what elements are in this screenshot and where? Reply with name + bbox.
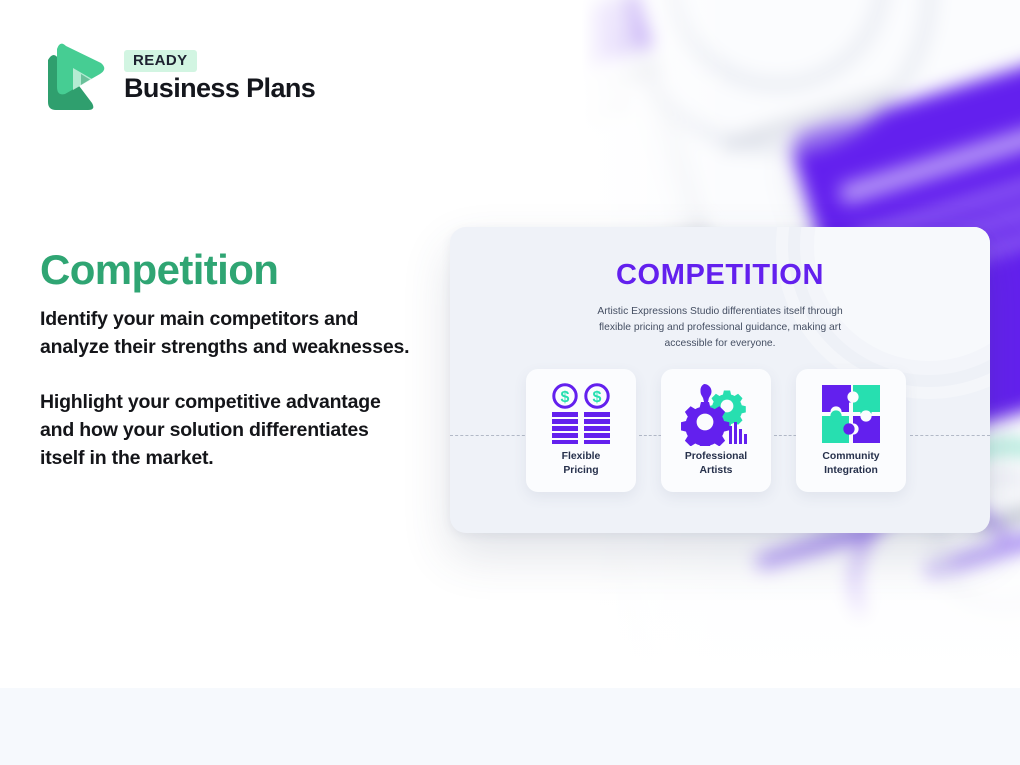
svg-text:$: $	[561, 389, 570, 406]
description-paragraph-2: Highlight your competitive advantage and…	[40, 389, 418, 472]
feature-tile-label-line2: Pricing	[563, 465, 598, 476]
feature-tile-label-line2: Artists	[700, 465, 733, 476]
bottom-band	[0, 688, 1020, 765]
dashed-connector	[450, 435, 530, 436]
feature-tile-label-line1: Community	[822, 451, 879, 462]
brand-name: Business Plans	[124, 74, 315, 104]
feature-tile-flexible-pricing[interactable]: $ $	[526, 369, 636, 492]
svg-text:$: $	[593, 389, 602, 406]
feature-tile-label: Community Integration	[822, 450, 879, 477]
feature-tile-label-line1: Professional	[685, 451, 747, 462]
feature-tile-professional-artists[interactable]: Professional Artists	[661, 369, 771, 492]
slide-preview-card[interactable]: COMPETITION Artistic Expressions Studio …	[450, 227, 990, 533]
gears-lightbulb-chart-icon	[681, 382, 751, 446]
page-title: Competition	[40, 246, 278, 294]
tile-icon-wrap	[820, 380, 882, 448]
brand-logo-text: READY Business Plans	[124, 50, 315, 104]
coin-stacks-icon: $ $	[548, 383, 614, 445]
feature-tile-label: Professional Artists	[685, 450, 747, 477]
tile-icon-wrap: $ $	[548, 380, 614, 448]
slide-subtitle: Artistic Expressions Studio differentiat…	[586, 304, 854, 352]
puzzle-pieces-icon	[820, 383, 882, 445]
feature-tile-community-integration[interactable]: Community Integration	[796, 369, 906, 492]
tile-icon-wrap	[681, 380, 751, 448]
slide-preview-page: READY Business Plans Competition Identif…	[0, 0, 1020, 765]
ready-badge: READY	[124, 50, 197, 72]
slide-title: COMPETITION	[450, 259, 990, 292]
play-triangle-logo-icon	[40, 38, 110, 116]
feature-tile-label-line2: Integration	[824, 465, 878, 476]
feature-tiles: $ $	[526, 369, 906, 492]
dashed-connector	[910, 435, 990, 436]
brand-logo[interactable]: READY Business Plans	[40, 38, 315, 116]
description-paragraph-1: Identify your main competitors and analy…	[40, 306, 418, 361]
feature-tile-label: Flexible Pricing	[562, 450, 601, 477]
page-description: Identify your main competitors and analy…	[40, 306, 418, 472]
feature-tile-label-line1: Flexible	[562, 451, 601, 462]
